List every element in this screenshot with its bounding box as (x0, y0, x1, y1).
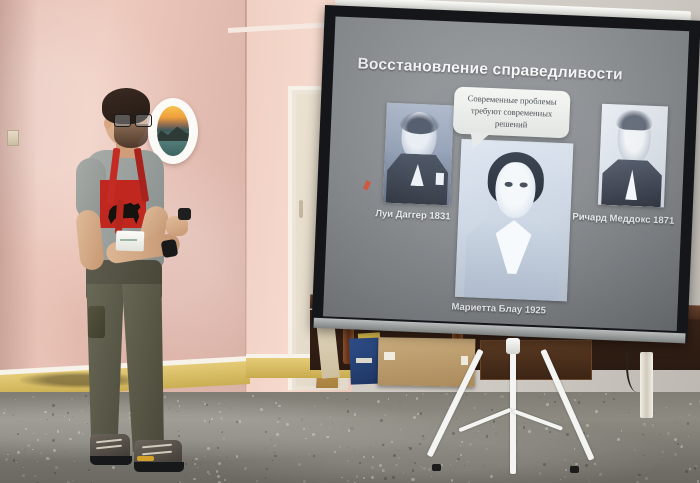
floor-speckle (587, 435, 590, 438)
floor-speckle (208, 473, 211, 476)
floor-speckle (662, 459, 663, 460)
floor-speckle (674, 453, 677, 456)
floor-speckle (446, 442, 447, 443)
floor-speckle (384, 414, 387, 417)
floor-speckle (422, 435, 424, 437)
floor-speckle (371, 466, 374, 469)
floor-speckle (226, 457, 227, 458)
floor-speckle (37, 461, 38, 462)
floor-speckle (556, 443, 558, 445)
floor-speckle (578, 401, 580, 403)
floor-speckle (694, 467, 697, 470)
floor-speckle (565, 469, 567, 471)
floor-speckle (648, 439, 650, 441)
floor-speckle (486, 410, 489, 413)
floor-speckle (45, 433, 48, 436)
floor-speckle (388, 398, 390, 400)
floor-speckle (599, 473, 602, 476)
floor-speckle (673, 447, 675, 449)
floor-speckle (219, 411, 221, 413)
floor-speckle (613, 437, 614, 438)
floor-speckle (493, 420, 496, 423)
floor-speckle (588, 478, 589, 479)
floor-speckle (400, 409, 401, 410)
floor-speckle (219, 455, 220, 456)
floor-speckle (308, 428, 310, 430)
floor-speckle (29, 445, 31, 447)
floor-speckle (428, 468, 431, 471)
floor-speckle (363, 477, 365, 479)
floor-speckle (305, 411, 306, 412)
floor-speckle (585, 464, 588, 467)
floor-speckle (403, 472, 405, 474)
floor-speckle (613, 398, 615, 400)
floor-speckle (634, 449, 636, 451)
floor-speckle (32, 449, 34, 451)
floor-speckle (416, 397, 419, 400)
floor-speckle (423, 467, 426, 470)
floor-speckle (347, 480, 349, 482)
floor-speckle (493, 426, 494, 427)
floor-speckle (22, 474, 25, 477)
floor-speckle (356, 475, 359, 478)
floor-speckle (256, 480, 258, 482)
floor-speckle (688, 436, 689, 437)
portrait-medal (436, 173, 445, 185)
floor-speckle (12, 414, 15, 417)
floor-speckle (420, 412, 423, 415)
floor-speckle (461, 441, 463, 443)
floor-speckle (605, 393, 607, 395)
floor-speckle (649, 458, 651, 460)
portrait-richard-maddox (598, 104, 668, 208)
floor-speckle (328, 437, 329, 438)
floor-speckle (419, 443, 421, 445)
floor-speckle (539, 472, 542, 475)
floor-speckle (451, 479, 454, 482)
floor-speckle (339, 446, 341, 448)
floor-speckle (580, 394, 581, 395)
portrait-marietta-blau (455, 139, 574, 302)
floor-speckle (656, 436, 657, 437)
floor-speckle (399, 402, 402, 405)
floor-speckle (660, 434, 661, 435)
floor-speckle (473, 407, 475, 409)
floor-speckle (460, 454, 462, 456)
box-label (384, 352, 395, 360)
floor-speckle (380, 419, 383, 422)
floor-speckle (332, 422, 334, 424)
floor-speckle (674, 438, 677, 441)
presenter-shadow (20, 372, 140, 388)
glasses-lens-right (135, 114, 152, 127)
floor-speckle (276, 433, 279, 436)
name-badge (116, 231, 145, 252)
floor-speckle (468, 481, 470, 483)
conference-photo: Восстановление справедливости Луи Даггер… (0, 0, 700, 483)
floor-speckle (40, 419, 41, 420)
floor-speckle (217, 447, 219, 449)
floor-speckle (265, 447, 268, 450)
floor-speckle (417, 413, 419, 415)
floor-speckle (697, 480, 700, 483)
floor-speckle (305, 438, 307, 440)
floor-speckle (225, 406, 227, 408)
floor-speckle (294, 473, 296, 475)
boot-sole-right (134, 462, 184, 472)
floor-speckle (252, 395, 254, 397)
floor-speckle (40, 452, 42, 454)
left-wall-shadow (0, 0, 38, 400)
floor-speckle (688, 414, 690, 416)
floor-speckle (486, 448, 488, 450)
floor-speckle (410, 461, 413, 464)
floor-speckle (490, 475, 493, 478)
floor-speckle (422, 393, 424, 395)
floor-speckle (412, 469, 414, 471)
floor-speckle (667, 432, 670, 435)
floor-speckle (369, 446, 371, 448)
caption-center: Мариетта Блау 1925 (451, 302, 546, 317)
floor-speckle (313, 455, 315, 457)
floor-speckle (298, 395, 300, 397)
floor-speckle (638, 474, 641, 477)
floor-speckle (266, 468, 268, 470)
tripod-hub (506, 338, 520, 354)
laser-pointer-dot (363, 180, 371, 190)
floor-speckle (402, 417, 403, 418)
floor-speckle (645, 477, 648, 480)
floor-speckle (218, 402, 221, 405)
floor-speckle (334, 451, 336, 453)
floor-speckle (409, 447, 412, 450)
floor-speckle (384, 477, 387, 480)
floor-speckle (613, 392, 615, 394)
floor-speckle (456, 460, 458, 462)
floor-speckle (25, 428, 27, 430)
portrait-hair (616, 109, 654, 131)
floor-speckle (320, 423, 323, 426)
floor-speckle (347, 460, 349, 462)
portrait-eye (504, 182, 512, 187)
floor-speckle (507, 443, 508, 444)
box-label (461, 356, 468, 365)
floor-speckle (491, 409, 493, 411)
floor-speckle (452, 476, 454, 478)
floor-speckle (478, 431, 479, 432)
floor-speckle (7, 460, 8, 461)
floor-speckle (278, 405, 281, 408)
floor-speckle (350, 427, 353, 430)
floor-speckle (398, 450, 399, 451)
floor-speckle (217, 475, 220, 478)
floor-speckle (666, 407, 667, 408)
floor-speckle (500, 464, 501, 465)
floor-speckle (52, 413, 55, 416)
floor-speckle (516, 441, 517, 442)
portrait-louis-daguerre (383, 103, 454, 206)
floor-speckle (14, 438, 15, 439)
floor-speckle (230, 407, 232, 409)
floor-speckle (464, 465, 465, 466)
floor-speckle (529, 428, 530, 429)
floor-speckle (561, 417, 564, 420)
floor-speckle (662, 451, 664, 453)
floor-speckle (7, 454, 9, 456)
floor-speckle (441, 464, 443, 466)
floor-speckle (589, 481, 590, 482)
floor-speckle (274, 445, 276, 447)
caption-right: Ричард Меддокс 1871 (572, 212, 674, 227)
floor-speckle (246, 454, 247, 455)
floor-speckle (32, 446, 33, 447)
floor-speckle (329, 427, 331, 429)
floor-speckle (544, 393, 545, 394)
floor-speckle (224, 479, 226, 481)
floor-speckle (623, 412, 625, 414)
floor-speckle (519, 427, 521, 429)
floor-speckle (312, 433, 315, 436)
floor-speckle (467, 461, 468, 462)
light-switch[interactable] (7, 130, 19, 146)
floor-speckle (239, 420, 242, 423)
floor-speckle (483, 465, 486, 468)
floor-speckle (329, 416, 331, 418)
floor-speckle (347, 446, 350, 449)
wrist-watch (161, 239, 179, 258)
floor-speckle (486, 435, 489, 438)
presenter-leg-right (122, 284, 164, 452)
floor-speckle (371, 476, 374, 479)
floor-speckle (516, 449, 518, 451)
floor-speckle (523, 426, 525, 428)
floor-speckle (218, 462, 221, 465)
floor-speckle (398, 457, 400, 459)
floor-speckle (348, 429, 351, 432)
floor-speckle (454, 467, 456, 469)
floor-speckle (221, 431, 224, 434)
speech-bubble-text: Современные проблемы требуют современных… (453, 91, 570, 132)
floor-speckle (326, 397, 329, 400)
floor-speckle (469, 443, 472, 446)
floor-speckle (689, 403, 691, 405)
floor-speckle (4, 396, 6, 398)
floor-speckle (538, 396, 541, 399)
floor-speckle (560, 479, 561, 480)
floor-speckle (546, 403, 549, 406)
floor-speckle (23, 467, 24, 468)
floor-speckle (267, 472, 269, 474)
floor-speckle (554, 401, 556, 403)
floor-speckle (301, 418, 304, 421)
floor-speckle (596, 441, 598, 443)
floor-speckle (643, 455, 644, 456)
floor-speckle (24, 448, 27, 451)
floor-speckle (431, 476, 432, 477)
door-handle-icon[interactable] (299, 200, 303, 218)
floor-speckle (689, 453, 691, 455)
glasses-icon (114, 114, 152, 125)
floor-speckle (13, 459, 16, 462)
floor-speckle (652, 424, 654, 426)
floor-speckle (586, 424, 589, 427)
floor-speckle (566, 433, 568, 435)
floor-speckle (275, 402, 277, 404)
floor-speckle (223, 437, 225, 439)
floor-speckle (445, 393, 448, 396)
floor-speckle (33, 433, 34, 434)
floor-speckle (391, 441, 393, 443)
floor-speckle (346, 399, 347, 400)
floor-speckle (363, 456, 365, 458)
floor-speckle (422, 437, 425, 440)
floor-speckle (245, 399, 246, 400)
floor-speckle (545, 427, 548, 430)
floor-speckle (420, 466, 422, 468)
floor-speckle (270, 439, 272, 441)
caption-left: Луи Даггер 1831 (375, 208, 451, 222)
presenter (58, 88, 208, 483)
floor-speckle (17, 433, 19, 435)
floor-speckle (549, 431, 551, 433)
floor-speckle (314, 405, 316, 407)
floor-speckle (680, 445, 683, 448)
floor-speckle (244, 467, 247, 470)
floor-speckle (449, 469, 451, 471)
floor-speckle (542, 405, 543, 406)
floor-speckle (411, 478, 414, 481)
floor-speckle (32, 454, 33, 455)
floor-speckle (593, 448, 594, 449)
floor-speckle (265, 431, 267, 433)
slide-surface: Восстановление справедливости Луи Даггер… (323, 16, 689, 331)
floor-speckle (456, 418, 457, 419)
floor-speckle (272, 460, 273, 461)
bag-tag (356, 358, 372, 363)
presentation-clicker[interactable] (178, 208, 191, 220)
floor-speckle (617, 438, 620, 441)
floor-speckle (282, 480, 284, 482)
floor-speckle (53, 449, 55, 451)
presenter-beard (114, 124, 148, 148)
floor-speckle (400, 429, 401, 430)
floor-speckle (56, 478, 57, 479)
floor-speckle (274, 455, 276, 457)
floor-speckle (635, 476, 638, 479)
floor-speckle (563, 432, 565, 434)
floor-speckle (603, 401, 605, 403)
tripod-foot-left (432, 464, 441, 471)
floor-speckle (543, 463, 546, 466)
floor-speckle (393, 454, 396, 457)
floor-speckle (450, 464, 452, 466)
slide-title: Восстановление справедливости (357, 55, 657, 86)
floor-speckle (48, 458, 50, 460)
floor-speckle (451, 448, 452, 449)
floor-speckle (273, 451, 276, 454)
floor-speckle (47, 419, 48, 420)
wall-corner-edge (245, 0, 247, 392)
floor-speckle (330, 438, 331, 439)
floor-speckle (15, 399, 16, 400)
floor-speckle (34, 475, 36, 477)
floor-speckle (495, 432, 498, 435)
floor-speckle (216, 470, 218, 472)
speech-bubble: Современные проблемы требуют современных… (453, 87, 571, 139)
floor-speckle (406, 394, 407, 395)
floor-speckle (642, 434, 643, 435)
boot-sole-left (90, 456, 132, 465)
floor-speckle (484, 393, 487, 396)
floor-speckle (32, 396, 34, 398)
cable (626, 348, 644, 392)
floor-speckle (422, 416, 423, 417)
floor-speckle (379, 464, 382, 467)
floor-speckle (564, 476, 566, 478)
floor-speckle (347, 410, 350, 413)
floor-speckle (578, 441, 579, 442)
floor-speckle (414, 462, 417, 465)
floor-speckle (286, 423, 289, 426)
floor-speckle (555, 433, 556, 434)
floor-speckle (298, 463, 301, 466)
floor-speckle (413, 416, 416, 419)
floor-speckle (687, 422, 689, 424)
floor-speckle (37, 439, 39, 441)
floor-speckle (528, 430, 531, 433)
floor-speckle (259, 465, 260, 466)
floor-speckle (558, 416, 559, 417)
floor-speckle (594, 463, 597, 466)
floor-speckle (236, 455, 239, 458)
floor-speckle (354, 413, 357, 416)
cargo-pocket (88, 306, 105, 338)
floor-speckle (634, 411, 635, 412)
floor-speckle (516, 462, 517, 463)
glasses-lens-left (114, 114, 131, 127)
floor-speckle (292, 445, 293, 446)
floor-speckle (220, 417, 223, 420)
floor-speckle (277, 421, 279, 423)
floor-speckle (574, 399, 576, 401)
floor-speckle (17, 451, 20, 454)
tripod-foot-right (570, 466, 579, 473)
floor-speckle (601, 460, 604, 463)
floor-speckle (280, 477, 281, 478)
floor-speckle (364, 473, 366, 475)
floor-speckle (260, 408, 263, 411)
floor-speckle (353, 449, 354, 450)
floor-speckle (685, 470, 688, 473)
floor-speckle (52, 439, 55, 442)
floor-speckle (653, 411, 656, 414)
floor-speckle (278, 417, 281, 420)
floor-speckle (689, 468, 691, 470)
floor-speckle (466, 394, 468, 396)
floor-speckle (286, 393, 288, 395)
floor-speckle (628, 412, 629, 413)
floor-speckle (359, 462, 361, 464)
floor-speckle (392, 476, 395, 479)
floor-speckle (4, 409, 6, 411)
floor-speckle (460, 445, 461, 446)
floor-speckle (209, 421, 210, 422)
floor-speckle (476, 439, 477, 440)
floor-speckle (676, 421, 678, 423)
boot-accent (137, 456, 154, 461)
floor-speckle (452, 432, 455, 435)
floor-speckle (52, 404, 55, 407)
